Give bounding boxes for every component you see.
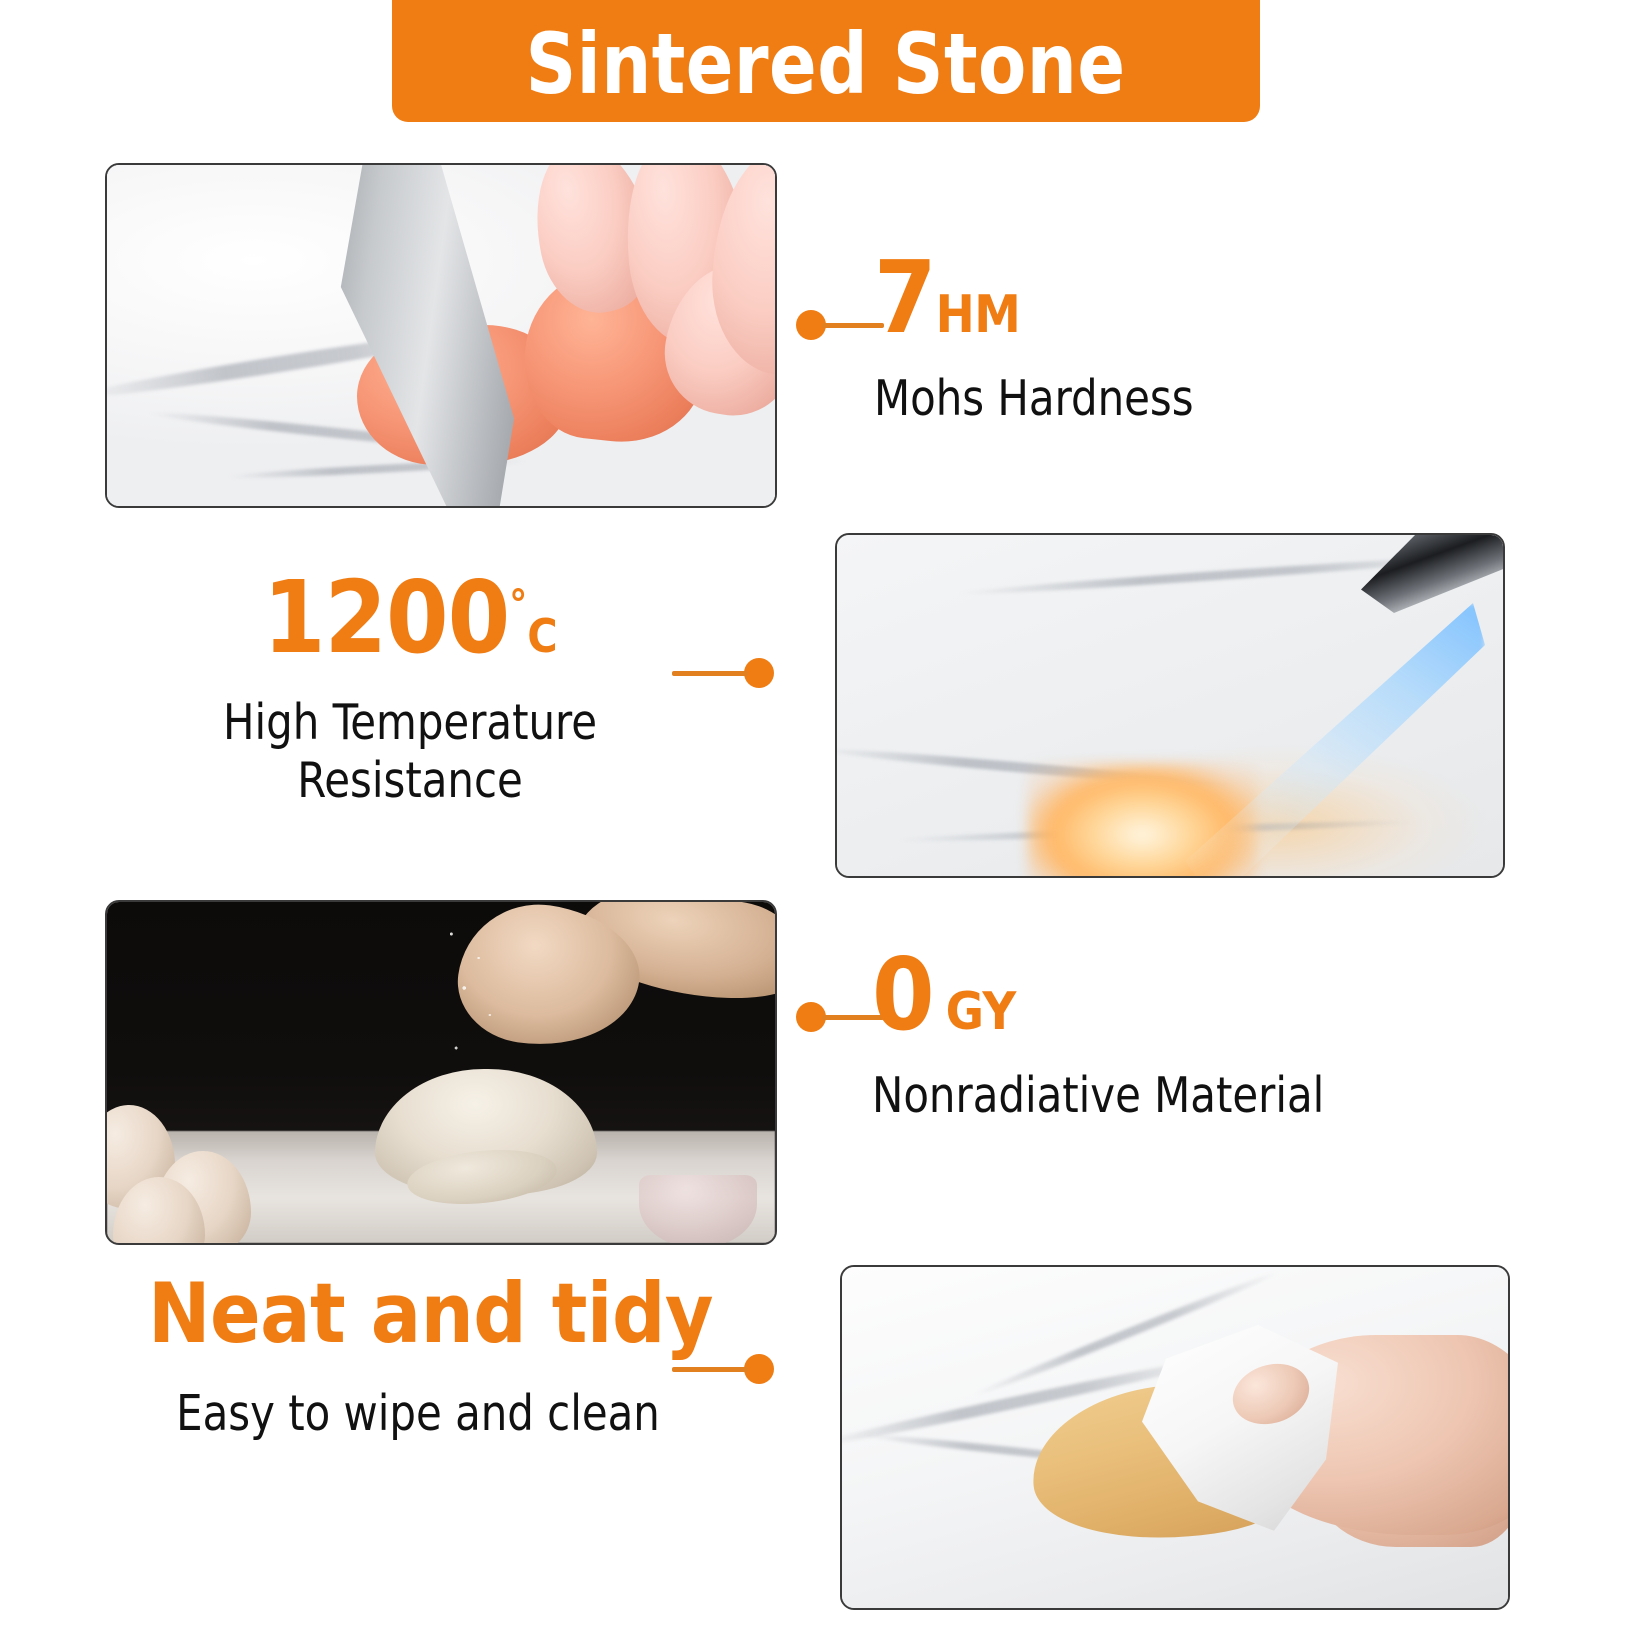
photo-torch-content [837, 535, 1503, 876]
degree-symbol: ° [509, 582, 527, 628]
photo-knife-content [107, 165, 775, 506]
page-title: Sintered Stone [526, 16, 1126, 106]
stat-nonradiative: 0GY Nonradiative Material [872, 945, 1348, 1125]
stat-label-temperature-line2: Resistance [163, 752, 657, 810]
stat-label-radiation: Nonradiative Material [872, 1067, 1324, 1125]
stat-neat-and-tidy: Neat and tidy Easy to wipe and clean [148, 1272, 688, 1443]
stat-number: 7 [874, 239, 936, 356]
connector-dot-icon [744, 1354, 774, 1384]
connector-mohs-hardness [796, 308, 886, 342]
stat-unit: GY [946, 982, 1016, 1042]
photo-knife-cutting-salmon [105, 163, 777, 508]
stat-headline-tidy: Neat and tidy [148, 1272, 688, 1355]
glass-bowl [639, 1175, 757, 1243]
photo-kneading-dough [105, 900, 777, 1245]
connector-line [672, 671, 748, 676]
stat-number: 1200 [263, 559, 509, 676]
photo-blow-torch-flame [835, 533, 1505, 878]
stat-number: 0 [872, 936, 934, 1053]
stat-value-radiation: 0GY [872, 945, 1348, 1045]
stat-label-mohs: Mohs Hardness [874, 370, 1194, 428]
stat-unit: HM [936, 285, 1021, 345]
photo-wiping-spill [840, 1265, 1510, 1610]
header-banner: Sintered Stone [392, 0, 1260, 122]
stat-unit: C [527, 609, 557, 663]
stat-value-temperature: 1200°C [150, 568, 670, 668]
connector-dot-icon [744, 658, 774, 688]
stat-label-tidy: Easy to wipe and clean [162, 1385, 675, 1443]
stat-label-temperature-line1: High Temperature [163, 694, 657, 752]
stat-mohs-hardness: 7HM Mohs Hardness [874, 248, 1210, 428]
stat-high-temperature: 1200°C High Temperature Resistance [150, 568, 670, 810]
stat-value-mohs: 7HM [874, 248, 1210, 348]
photo-dough-content [107, 902, 775, 1243]
connector-high-temperature [668, 656, 774, 690]
photo-wipe-content [842, 1267, 1508, 1608]
